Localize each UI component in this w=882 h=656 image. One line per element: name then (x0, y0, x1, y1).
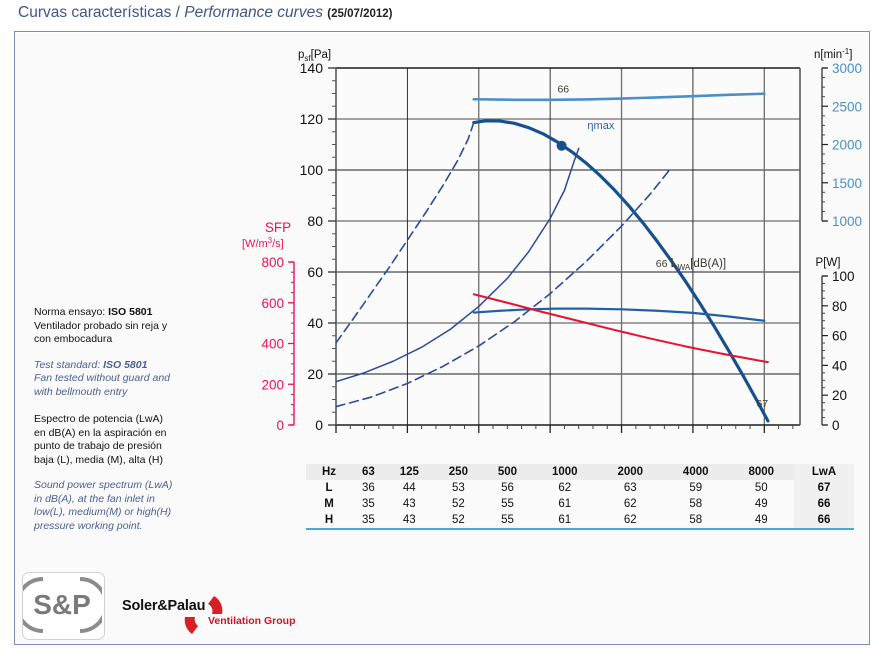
table-header-125: 125 (385, 464, 434, 480)
axis-tick-label-psf: 0 (315, 417, 323, 433)
axis-tick-label-x: 700 (681, 438, 705, 441)
axis-tick-label-sfp: 0 (276, 418, 284, 433)
sp-logo-box: S&P (22, 572, 105, 640)
table-cell: 62 (598, 496, 663, 512)
table-cell: 35 (352, 496, 385, 512)
spectrum-note-en-line2: in dB(A), at the fan inlet in (34, 493, 224, 507)
table-cell: 63 (598, 480, 663, 496)
spectrum-note-en-line1: Sound power spectrum (LwA) (34, 479, 224, 493)
axis-title-sfp: SFP (265, 220, 291, 235)
brand-lockup: Soler&Palau Ventilation Group (122, 598, 322, 638)
marker-eta-max-point (557, 141, 567, 151)
axis-tick-label-x: 800 (753, 438, 777, 441)
axis-tick-label-psf: 140 (300, 60, 324, 76)
performance-chart-svg: 020406080100120140psf[Pa]0200400600800SF… (0, 31, 882, 441)
table-cell: 43 (385, 496, 434, 512)
table-cell-lwa: 66 (794, 512, 854, 529)
axis-tick-label-psf: 20 (307, 366, 323, 382)
axis-tick-label-psf: 40 (307, 315, 323, 331)
table-cell: 49 (728, 496, 794, 512)
axis-tick-label-rpm: 2500 (832, 99, 862, 114)
table-head: Hz631252505001000200040008000LwA (306, 464, 854, 480)
table-header-row: Hz631252505001000200040008000LwA (306, 464, 854, 480)
spectrum-note-en-line4: pressure working point. (34, 520, 224, 534)
axis-tick-label-sfp: 800 (261, 255, 284, 270)
table-cell: 44 (385, 480, 434, 496)
axis-tick-label-rpm: 2000 (832, 138, 862, 153)
axis-tick-label-x: 400 (467, 438, 491, 441)
spectrum-note-en-block: Sound power spectrum (LwA) in dB(A), at … (34, 479, 224, 533)
table-cell: 43 (385, 512, 434, 529)
table-row: M354352556162584966 (306, 496, 854, 512)
axis-tick-label-sfp: 400 (261, 337, 284, 352)
table-cell: 52 (434, 496, 483, 512)
axis-tick-label-x: 300 (396, 438, 420, 441)
axis-tick-label-rpm: 1500 (832, 176, 862, 191)
table-cell-lwa: 67 (794, 480, 854, 496)
spectrum-note-es-line4: baja (L), media (M), alta (H) (34, 454, 224, 468)
axis-unit-sfp: [W/m3/s] (242, 236, 284, 250)
axis-tick-label-psf: 100 (300, 162, 324, 178)
sp-monogram-icon: S&P (23, 573, 102, 637)
table-cell: 53 (434, 480, 483, 496)
table-cell: 52 (434, 512, 483, 529)
axis-title-psf: psf[Pa] (298, 49, 331, 63)
table-row-label: M (306, 496, 352, 512)
spectrum-note-en-line3: low(L), medium(M) or high(H) (34, 506, 224, 520)
table-cell: 55 (483, 496, 532, 512)
table-header-500: 500 (483, 464, 532, 480)
table-row: H354352556162584966 (306, 512, 854, 529)
axis-tick-label-sfp: 600 (261, 296, 284, 311)
table-cell: 62 (598, 512, 663, 529)
axis-tick-label-power: 20 (832, 388, 847, 403)
axis-tick-label-power: 40 (832, 358, 847, 373)
table-cell: 35 (352, 512, 385, 529)
table-cell-lwa: 66 (794, 496, 854, 512)
axis-tick-label-power: 100 (832, 269, 855, 284)
table-cell: 61 (532, 512, 597, 529)
table-cell: 59 (663, 480, 728, 496)
page-title-date: (25/07/2012) (327, 8, 392, 20)
annotation-lwa-67-lower: 67 (756, 398, 768, 410)
axis-tick-label-x: 200 (324, 438, 348, 441)
table-cell: 58 (663, 496, 728, 512)
page-title-es: Curvas características (18, 4, 171, 21)
axis-title-power: P[W] (816, 257, 841, 269)
axis-tick-label-rpm: 1000 (832, 214, 862, 229)
table-row-label: L (306, 480, 352, 496)
table-header-63: 63 (352, 464, 385, 480)
sound-power-spectrum-table: Hz631252505001000200040008000LwA L364453… (306, 464, 854, 530)
table-header-1000: 1000 (532, 464, 597, 480)
table-body: L364453566263595067M354352556162584966H3… (306, 480, 854, 529)
axis-tick-label-psf: 80 (307, 213, 323, 229)
table-cell: 49 (728, 512, 794, 529)
annotation-eta-max: ηmax (587, 120, 614, 132)
table-header-hz: Hz (306, 464, 352, 480)
page-title-en: Performance curves (184, 4, 323, 21)
axis-tick-label-psf: 60 (307, 264, 323, 280)
table-cell: 56 (483, 480, 532, 496)
annotation-lwa-band: 66 LWA[dB(A)] (656, 255, 726, 272)
annotation-lwa-66-upper: 66 (557, 84, 569, 96)
table-cell: 36 (352, 480, 385, 496)
axis-tick-label-power: 80 (832, 299, 847, 314)
axis-tick-label-power: 0 (832, 418, 840, 433)
table-row-label: H (306, 512, 352, 529)
table-header-lwa: LwA (794, 464, 854, 480)
table-cell: 55 (483, 512, 532, 529)
axis-tick-label-sfp: 200 (261, 377, 284, 392)
spectrum-note-es-line3: punto de trabajo de presión (34, 440, 224, 454)
axis-tick-label-psf: 120 (300, 111, 324, 127)
svg-text:S&P: S&P (33, 589, 91, 620)
page-title-separator: / (171, 4, 184, 21)
datasheet-page: Curvas características / Performance cur… (0, 0, 882, 656)
table-header-2000: 2000 (598, 464, 663, 480)
brand-swoosh-icon (178, 592, 228, 640)
table-row: L364453566263595067 (306, 480, 854, 496)
axis-tick-label-x: 600 (610, 438, 634, 441)
table-cell: 58 (663, 512, 728, 529)
axis-tick-label-x: 500 (538, 438, 562, 441)
axis-tick-label-power: 60 (832, 329, 847, 344)
axis-title-rpm: n[min-1] (814, 47, 852, 61)
plot-background (336, 68, 800, 425)
table-header-250: 250 (434, 464, 483, 480)
table-cell: 62 (532, 480, 597, 496)
table-header-8000: 8000 (728, 464, 794, 480)
axis-title-x: qv[m3/h] (793, 440, 832, 441)
table-cell: 61 (532, 496, 597, 512)
axis-tick-label-rpm: 3000 (832, 61, 862, 76)
performance-chart: 020406080100120140psf[Pa]0200400600800SF… (0, 31, 882, 441)
table-cell: 50 (728, 480, 794, 496)
table-header-4000: 4000 (663, 464, 728, 480)
page-title: Curvas características / Performance cur… (18, 4, 392, 22)
